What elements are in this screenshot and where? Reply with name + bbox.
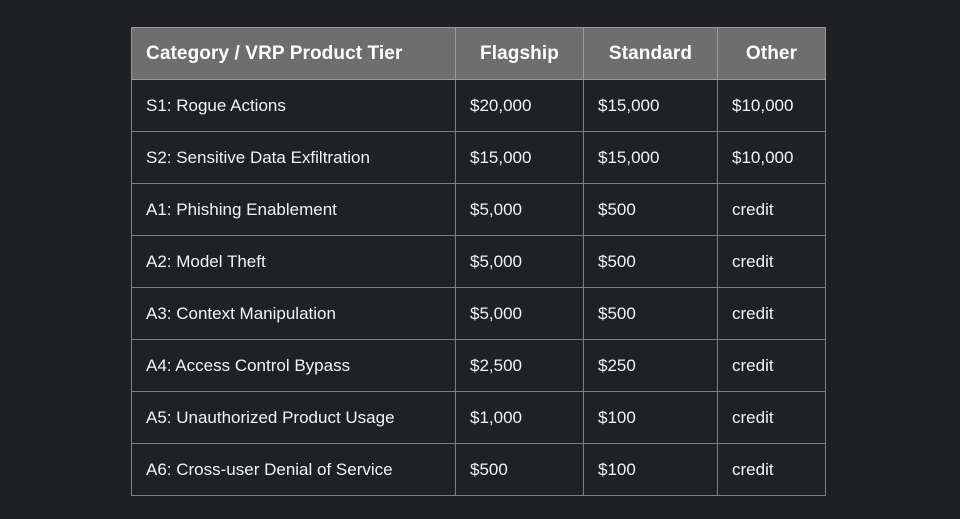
page-root: Category / VRP Product Tier Flagship Sta… <box>0 0 960 519</box>
cell-category: A2: Model Theft <box>132 236 456 288</box>
cell-flagship: $5,000 <box>456 236 584 288</box>
vrp-reward-table-container: Category / VRP Product Tier Flagship Sta… <box>131 27 825 496</box>
table-header: Category / VRP Product Tier Flagship Sta… <box>132 28 826 80</box>
cell-other: $10,000 <box>718 80 826 132</box>
table-row: A2: Model Theft $5,000 $500 credit <box>132 236 826 288</box>
cell-other: credit <box>718 236 826 288</box>
cell-standard: $15,000 <box>584 80 718 132</box>
cell-category: S2: Sensitive Data Exfiltration <box>132 132 456 184</box>
cell-standard: $500 <box>584 288 718 340</box>
column-header-category: Category / VRP Product Tier <box>132 28 456 80</box>
column-header-standard: Standard <box>584 28 718 80</box>
vrp-reward-table: Category / VRP Product Tier Flagship Sta… <box>131 27 826 496</box>
cell-flagship: $5,000 <box>456 184 584 236</box>
cell-category: A3: Context Manipulation <box>132 288 456 340</box>
cell-category: A1: Phishing Enablement <box>132 184 456 236</box>
cell-flagship: $500 <box>456 444 584 496</box>
column-header-flagship: Flagship <box>456 28 584 80</box>
cell-category: A4: Access Control Bypass <box>132 340 456 392</box>
cell-standard: $500 <box>584 236 718 288</box>
cell-standard: $15,000 <box>584 132 718 184</box>
table-row: A5: Unauthorized Product Usage $1,000 $1… <box>132 392 826 444</box>
table-header-row: Category / VRP Product Tier Flagship Sta… <box>132 28 826 80</box>
cell-category: A6: Cross-user Denial of Service <box>132 444 456 496</box>
table-body: S1: Rogue Actions $20,000 $15,000 $10,00… <box>132 80 826 496</box>
cell-flagship: $5,000 <box>456 288 584 340</box>
cell-other: credit <box>718 340 826 392</box>
cell-standard: $100 <box>584 392 718 444</box>
cell-other: credit <box>718 288 826 340</box>
table-row: A3: Context Manipulation $5,000 $500 cre… <box>132 288 826 340</box>
cell-other: credit <box>718 392 826 444</box>
cell-flagship: $15,000 <box>456 132 584 184</box>
cell-flagship: $20,000 <box>456 80 584 132</box>
cell-flagship: $2,500 <box>456 340 584 392</box>
cell-other: credit <box>718 444 826 496</box>
table-row: A6: Cross-user Denial of Service $500 $1… <box>132 444 826 496</box>
cell-other: $10,000 <box>718 132 826 184</box>
cell-standard: $100 <box>584 444 718 496</box>
cell-standard: $250 <box>584 340 718 392</box>
table-row: S1: Rogue Actions $20,000 $15,000 $10,00… <box>132 80 826 132</box>
cell-other: credit <box>718 184 826 236</box>
cell-category: A5: Unauthorized Product Usage <box>132 392 456 444</box>
cell-flagship: $1,000 <box>456 392 584 444</box>
table-row: A4: Access Control Bypass $2,500 $250 cr… <box>132 340 826 392</box>
table-row: S2: Sensitive Data Exfiltration $15,000 … <box>132 132 826 184</box>
cell-standard: $500 <box>584 184 718 236</box>
column-header-other: Other <box>718 28 826 80</box>
table-row: A1: Phishing Enablement $5,000 $500 cred… <box>132 184 826 236</box>
cell-category: S1: Rogue Actions <box>132 80 456 132</box>
